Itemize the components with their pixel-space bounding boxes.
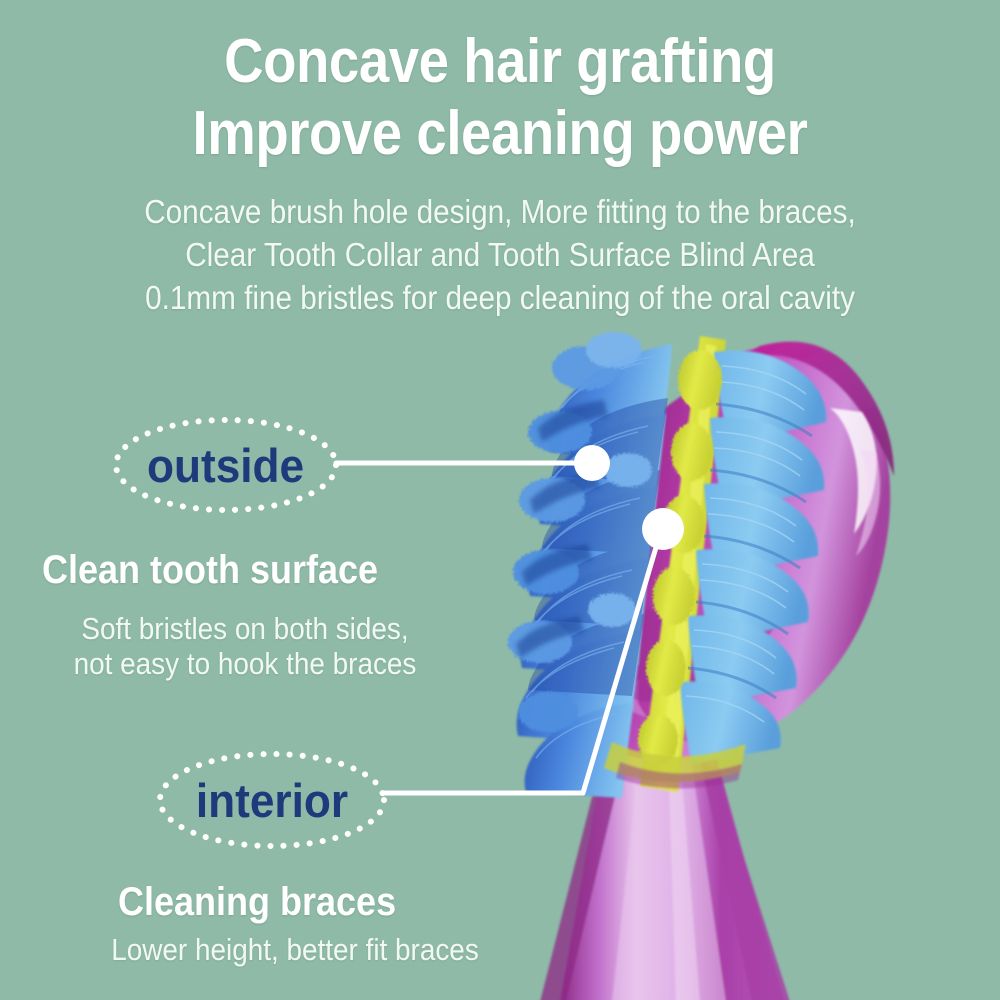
- infographic-canvas: Concave hair grafting Improve cleaning p…: [0, 0, 1000, 1000]
- toothbrush-illustration: [0, 0, 1000, 1000]
